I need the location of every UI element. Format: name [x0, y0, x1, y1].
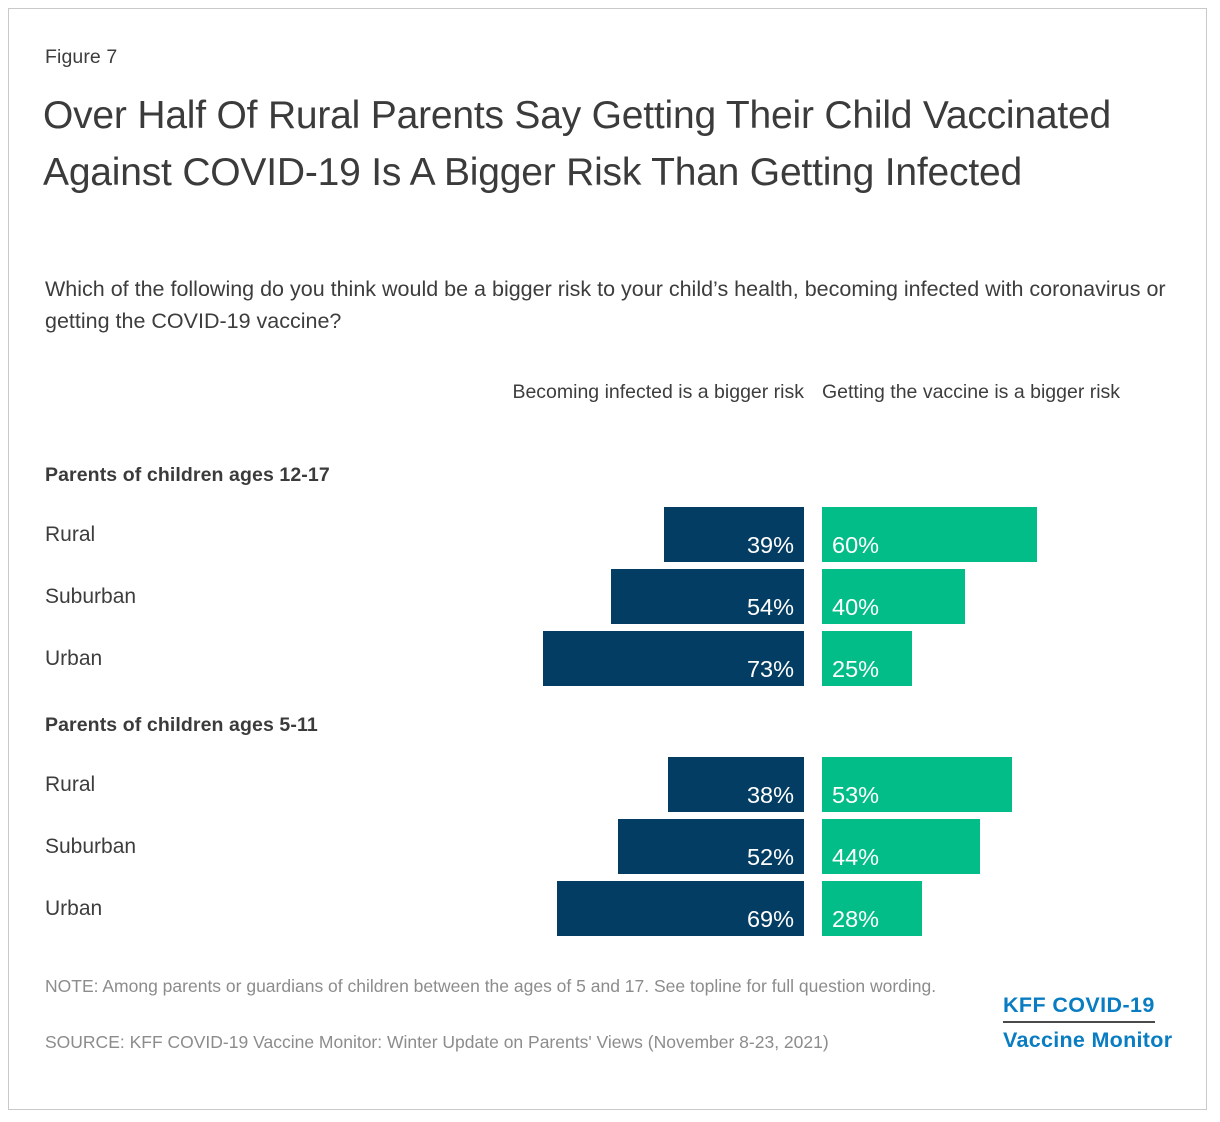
row-label: Suburban — [45, 819, 136, 874]
bar-infected: 39% — [664, 507, 804, 562]
bar-infected: 38% — [668, 757, 804, 812]
group-header: Parents of children ages 5-11 — [45, 714, 318, 737]
bar-value-label: 69% — [747, 906, 794, 933]
bar-vaccine: 60% — [822, 507, 1037, 562]
bar-vaccine: 40% — [822, 569, 965, 624]
bar-value-label: 60% — [832, 532, 879, 559]
bar-value-label: 52% — [747, 844, 794, 871]
bar-value-label: 44% — [832, 844, 879, 871]
figure-container: Figure 7 Over Half Of Rural Parents Say … — [8, 8, 1207, 1110]
bar-value-label: 54% — [747, 594, 794, 621]
bar-vaccine: 53% — [822, 757, 1012, 812]
bar-value-label: 73% — [747, 656, 794, 683]
bar-vaccine: 28% — [822, 881, 922, 936]
bar-value-label: 39% — [747, 532, 794, 559]
footer-note: NOTE: Among parents or guardians of chil… — [45, 972, 975, 1000]
row-label: Rural — [45, 757, 95, 812]
row-label: Urban — [45, 881, 102, 936]
bar-value-label: 53% — [832, 782, 879, 809]
logo-line-1: KFF COVID-19 — [1003, 993, 1155, 1023]
row-label: Suburban — [45, 569, 136, 624]
group-header: Parents of children ages 12-17 — [45, 464, 330, 487]
row-label: Urban — [45, 631, 102, 686]
bar-infected: 69% — [557, 881, 804, 936]
bar-value-label: 25% — [832, 656, 879, 683]
bar-infected: 52% — [618, 819, 804, 874]
bar-infected: 54% — [611, 569, 804, 624]
chart-plot-area: Parents of children ages 12-17Rural39%60… — [9, 9, 1208, 1111]
bar-vaccine: 44% — [822, 819, 980, 874]
bar-value-label: 28% — [832, 906, 879, 933]
bar-value-label: 38% — [747, 782, 794, 809]
row-label: Rural — [45, 507, 95, 562]
bar-infected: 73% — [543, 631, 804, 686]
footer-source: SOURCE: KFF COVID-19 Vaccine Monitor: Wi… — [45, 1028, 985, 1056]
bar-value-label: 40% — [832, 594, 879, 621]
bar-vaccine: 25% — [822, 631, 912, 686]
kff-covid19-vaccine-monitor-logo: KFF COVID-19 Vaccine Monitor — [1003, 993, 1193, 1053]
logo-line-2: Vaccine Monitor — [1003, 1028, 1193, 1053]
